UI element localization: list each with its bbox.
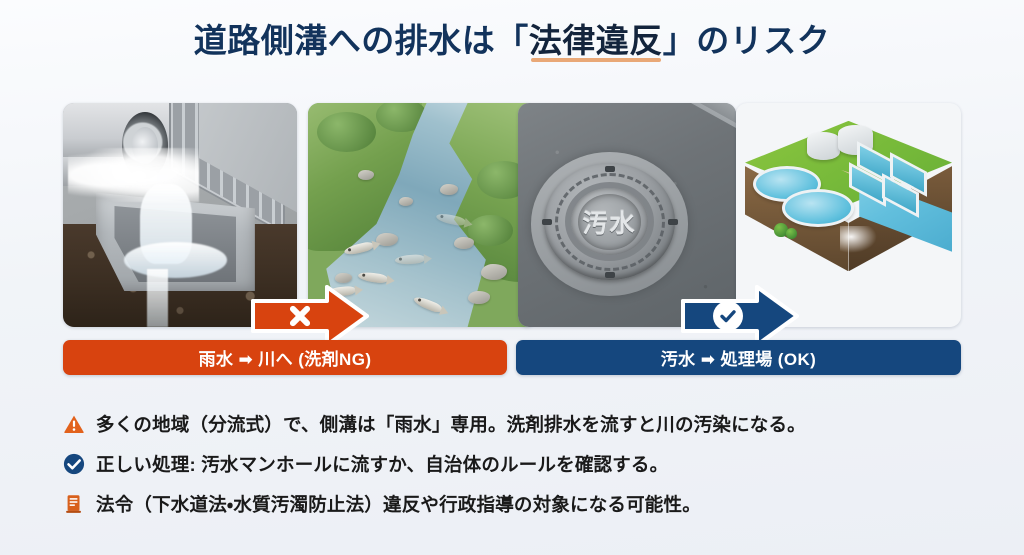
page-title: 道路側溝への排水は「法律違反」のリスク (0, 14, 1024, 62)
manhole-label: 汚水 (583, 204, 637, 240)
good-flow-arrow (683, 285, 799, 347)
document-icon (63, 493, 85, 515)
title-before: 道路側溝への排水は「 (194, 22, 529, 59)
caption-sewage: 汚水 ➡ 処理場 (OK) (516, 340, 961, 375)
bullet-item-warning: 多くの地域（分流式）で、側溝は「雨水」専用。洗剤排水を流すと川の汚染になる。 (63, 404, 963, 444)
bullet-list: 多くの地域（分流式）で、側溝は「雨水」専用。洗剤排水を流すと川の汚染になる。 正… (63, 404, 963, 524)
bullet-text: 多くの地域（分流式）で、側溝は「雨水」専用。洗剤排水を流すと川の汚染になる。 (96, 411, 806, 437)
bullet-item-correct: 正しい処理: 汚水マンホールに流すか、自治体のルールを確認する。 (63, 444, 963, 484)
image-strip: 汚水 (63, 103, 961, 327)
bullet-item-law: 法令（下水道法・水質汚濁防止法）違反や行政指導の対象になる可能性。 (63, 484, 963, 524)
bad-flow-arrow (253, 285, 369, 347)
warning-triangle-icon (63, 413, 85, 435)
bullet-text: 正しい処理: 汚水マンホールに流すか、自治体のルールを確認する。 (96, 451, 668, 477)
title-highlight: 法律違反 (529, 22, 663, 59)
check-circle-icon (63, 453, 85, 475)
check-mark-icon (713, 301, 743, 331)
bullet-text: 法令（下水道法・水質汚濁防止法）違反や行政指導の対象になる可能性。 (96, 491, 701, 517)
x-mark-icon (287, 303, 313, 329)
caption-rainwater: 雨水 ➡ 川へ (洗剤NG) (63, 340, 507, 375)
title-after: 」のリスク (663, 22, 831, 59)
